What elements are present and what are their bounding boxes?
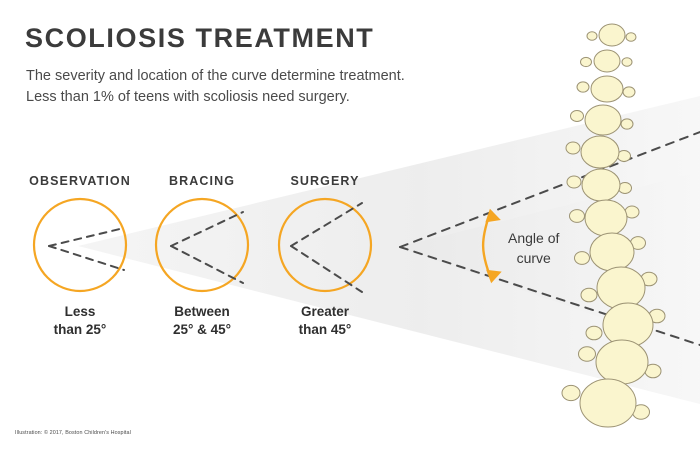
angle-annotation-line2: curve [517, 250, 551, 266]
vertebra-process-left [566, 142, 580, 154]
vertebra-process-left [570, 210, 585, 223]
stage-caption-bracing-line2: 25° & 45° [173, 322, 231, 337]
vertebra-process-right [621, 119, 633, 129]
vertebra [581, 50, 633, 72]
stage-caption-observation-line1: Less [65, 304, 96, 319]
vertebra-body [594, 50, 620, 72]
vertebra-body [582, 169, 620, 201]
stage-caption-surgery-line1: Greater [301, 304, 349, 319]
stage-caption-observation: Less than 25° [54, 303, 107, 339]
vertebra-body [581, 136, 619, 168]
stage-label-observation: OBSERVATION [29, 174, 131, 188]
angle-annotation-line1: Angle of [508, 230, 559, 246]
illustration-canvas [0, 0, 700, 450]
vertebra-body [599, 24, 625, 46]
vertebra [577, 76, 635, 102]
stage-caption-observation-line2: than 25° [54, 322, 107, 337]
vertebra-process-left [579, 347, 596, 361]
vertebra-process-left [577, 82, 589, 92]
vertebra-body [580, 379, 636, 427]
vertebra-process-left [586, 326, 602, 340]
vertebra-process-right [626, 33, 636, 42]
vertebra-process-left [575, 252, 590, 265]
vertebra-body [591, 76, 623, 102]
vertebra-process-left [587, 32, 597, 41]
stage-caption-surgery: Greater than 45° [299, 303, 352, 339]
vertebra-process-right [622, 58, 632, 67]
stage-label-surgery: SURGERY [290, 174, 359, 188]
stage-caption-surgery-line2: than 45° [299, 322, 352, 337]
stage-caption-bracing: Between 25° & 45° [173, 303, 231, 339]
vertebra-body [590, 233, 634, 271]
vertebra-body [585, 200, 627, 236]
stage-label-bracing: BRACING [169, 174, 235, 188]
vertebra-body [585, 105, 621, 135]
stage-caption-bracing-line1: Between [174, 304, 230, 319]
vertebra-body [597, 267, 645, 309]
vertebra [587, 24, 636, 46]
vertebra-body [596, 340, 648, 384]
vertebra-process-left [571, 110, 584, 121]
vertebra-process-right [623, 87, 635, 97]
vertebra-process-left [567, 176, 581, 188]
scoliosis-treatment-infographic: SCOLIOSIS TREATMENT The severity and loc… [0, 0, 700, 450]
vertebra-process-left [581, 288, 597, 302]
vertebra-process-left [562, 385, 580, 400]
angle-of-curve-annotation: Angle of curve [508, 228, 559, 268]
vertebra-process-left [581, 57, 592, 66]
copyright-credit: Illustration: © 2017, Boston Children's … [15, 430, 131, 436]
